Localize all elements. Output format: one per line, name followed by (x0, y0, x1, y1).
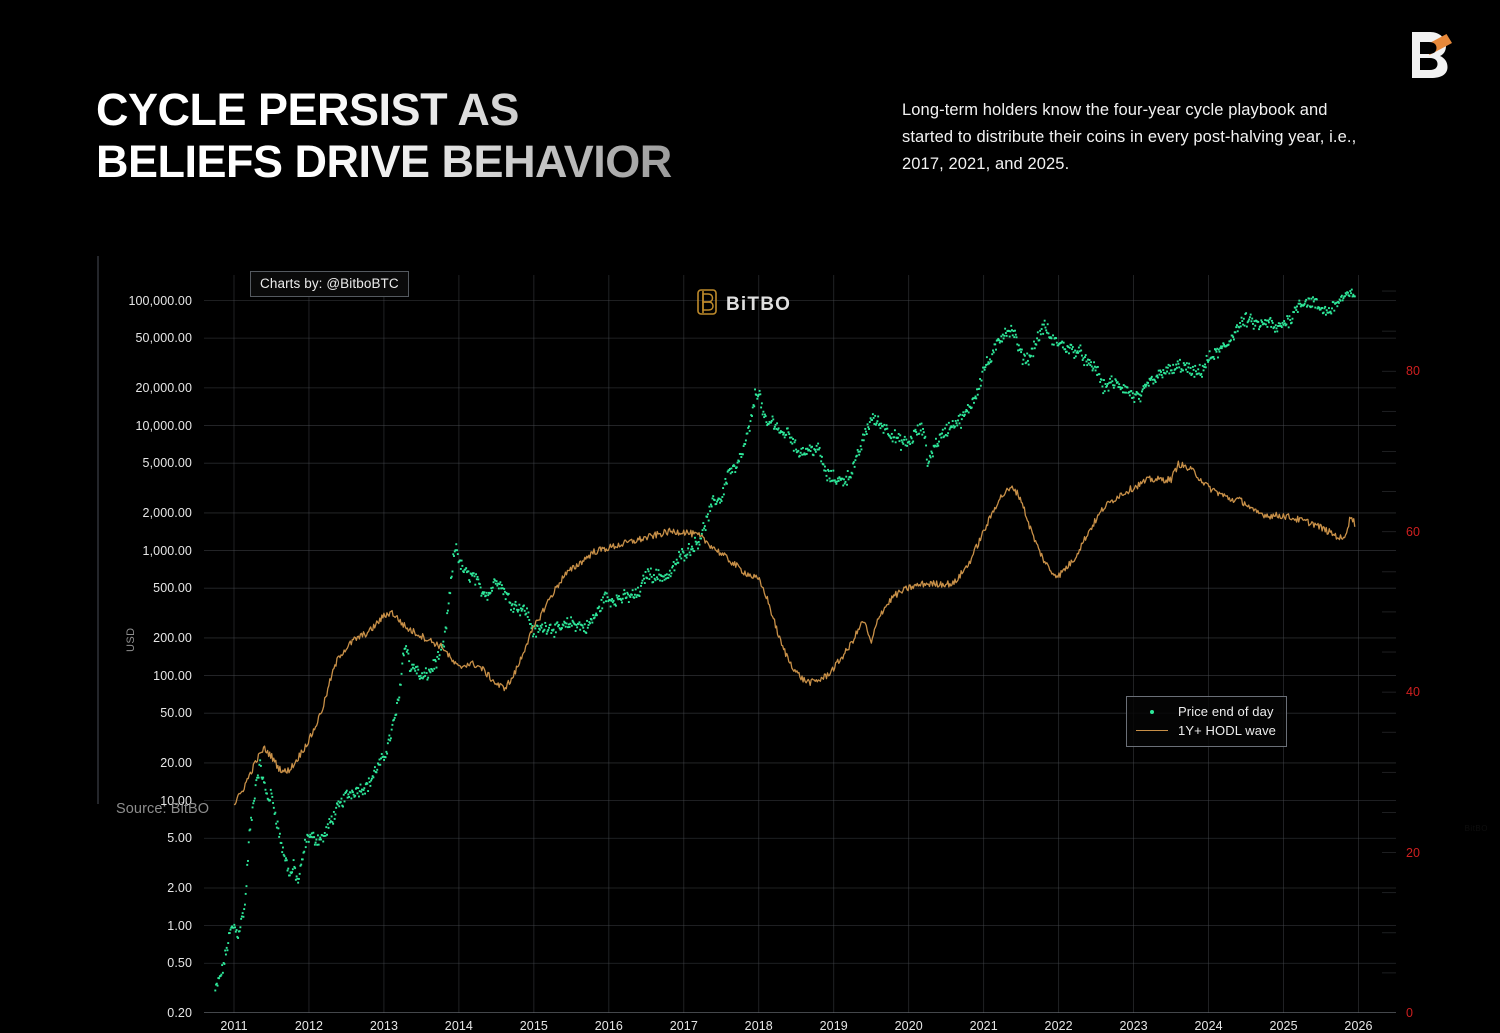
x-axis-tick-label: 2022 (1045, 1019, 1073, 1033)
x-axis-tick-label: 2017 (670, 1019, 698, 1033)
y-axis-tick-label: 100,000.00 (128, 294, 192, 308)
right-axis-tick-label: 80 (1406, 364, 1420, 378)
x-axis-tick-label: 2023 (1120, 1019, 1148, 1033)
x-axis-tick-label: 2012 (295, 1019, 323, 1033)
page-subtitle: Long-term holders know the four-year cyc… (902, 97, 1372, 178)
bitbo-watermark-icon (697, 289, 717, 320)
corner-watermark: BitBO (1465, 824, 1488, 833)
y-axis-tick-label: 5,000.00 (143, 456, 192, 470)
x-axis-tick-label: 2018 (745, 1019, 773, 1033)
chart-overlays (204, 275, 1396, 1013)
y-axis-tick-label: 200.00 (153, 631, 192, 645)
y-axis-tick-label: 5.00 (167, 831, 192, 845)
x-axis-tick-label: 2016 (595, 1019, 623, 1033)
x-axis-tick-label: 2011 (220, 1019, 247, 1033)
x-axis-tick-label: 2015 (520, 1019, 548, 1033)
x-axis-tick-label: 2024 (1194, 1019, 1222, 1033)
y-axis-title: USD (125, 628, 137, 652)
legend-marker-line-icon (1135, 730, 1169, 732)
y-axis-tick-label: 100.00 (153, 669, 192, 683)
y-axis-tick-label: 500.00 (153, 581, 192, 595)
legend-label-price: Price end of day (1178, 704, 1274, 719)
y-axis-tick-label: 1.00 (167, 919, 192, 933)
x-axis-tick-label: 2021 (970, 1019, 998, 1033)
right-axis-tick-label: 0 (1406, 1006, 1413, 1020)
x-axis-tick-label: 2014 (445, 1019, 473, 1033)
y-axis-tick-label: 20,000.00 (135, 381, 192, 395)
y-axis-tick-label: 2,000.00 (143, 506, 192, 520)
x-axis-tick-label: 2025 (1269, 1019, 1297, 1033)
header: CYCLE PERSIST AS BELIEFS DRIVE BEHAVIOR … (0, 0, 1500, 210)
bitbo-b-logo-icon (1406, 29, 1454, 81)
y-axis-tick-label: 1,000.00 (143, 544, 192, 558)
right-axis-tick-label: 40 (1406, 685, 1420, 699)
x-axis-tick-label: 2020 (895, 1019, 923, 1033)
y-axis-tick-label: 0.20 (167, 1006, 192, 1020)
y-axis-tick-label: 50,000.00 (135, 331, 192, 345)
y-axis-tick-label: 20.00 (160, 756, 192, 770)
chart-legend: Price end of day 1Y+ HODL wave (1126, 696, 1287, 747)
x-axis-tick-label: 2026 (1344, 1019, 1372, 1033)
right-axis-tick-label: 60 (1406, 525, 1420, 539)
x-axis-tick-label: 2013 (370, 1019, 398, 1033)
x-axis-tick-label: 2019 (820, 1019, 848, 1033)
bitbo-watermark: BiTBO (697, 289, 791, 320)
legend-label-hodl: 1Y+ HODL wave (1178, 723, 1276, 738)
bitbo-watermark-text: BiTBO (726, 294, 791, 316)
charts-by-badge: Charts by: @BitboBTC (250, 271, 409, 297)
legend-item-hodl: 1Y+ HODL wave (1135, 721, 1276, 740)
chart-plot-area (204, 275, 1396, 1013)
source-caption: Source: BitBO (116, 801, 209, 817)
y-axis-tick-label: 2.00 (167, 881, 192, 895)
legend-marker-dot-icon (1135, 710, 1169, 714)
right-axis-tick-label: 20 (1406, 846, 1420, 860)
page-title: CYCLE PERSIST AS BELIEFS DRIVE BEHAVIOR (96, 84, 672, 188)
legend-item-price: Price end of day (1135, 702, 1276, 721)
y-axis-tick-label: 10,000.00 (135, 419, 192, 433)
y-axis-tick-label: 50.00 (160, 706, 192, 720)
y-axis-tick-label: 0.50 (167, 956, 192, 970)
